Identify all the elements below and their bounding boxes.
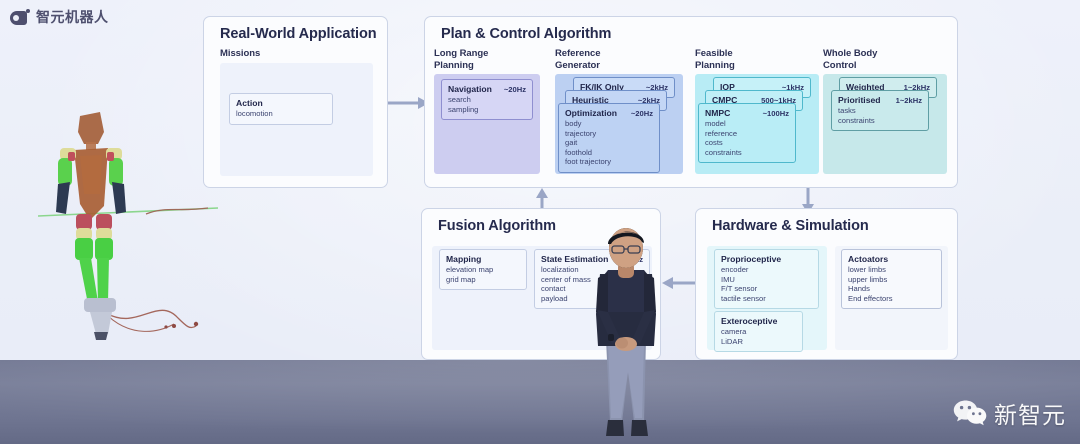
card-prioritised: Prioritised 1~2kHz tasks constraints bbox=[831, 90, 929, 131]
sub-label-whole-body-control: Whole Body Control bbox=[823, 48, 877, 71]
watermark-text: 新智元 bbox=[994, 396, 1066, 430]
panel-title-real-world: Real-World Application bbox=[220, 26, 377, 42]
card-item: trajectory bbox=[565, 129, 653, 139]
sub-label-line-1: Reference bbox=[555, 48, 601, 59]
card-item: body bbox=[565, 119, 653, 129]
card-name-action: Action bbox=[236, 98, 263, 108]
card-name-exteroceptive: Exteroceptive bbox=[721, 316, 777, 326]
sub-label-missions: Missions bbox=[220, 48, 260, 60]
sub-label-line-2: Control bbox=[823, 60, 856, 71]
panel-real-world-application: Real-World Application Missions Action l… bbox=[203, 16, 388, 188]
card-item: locomotion bbox=[236, 109, 326, 119]
card-action: Action locomotion bbox=[229, 93, 333, 125]
card-name-actoators: Actoators bbox=[848, 254, 888, 264]
card-proprioceptive: Proprioceptive encoder IMU F/T sensor ta… bbox=[714, 249, 819, 309]
card-actoators: Actoators lower limbs upper limbs Hands … bbox=[841, 249, 942, 309]
panel-title-plan-control: Plan & Control Algorithm bbox=[441, 26, 611, 42]
card-item: foothold bbox=[565, 148, 653, 158]
card-item: lower limbs bbox=[848, 265, 935, 275]
card-item: End effectors bbox=[848, 294, 935, 304]
sub-label-reference-generator: Reference Generator bbox=[555, 48, 601, 71]
sub-label-feasible-planning: Feasible Planning bbox=[695, 48, 735, 71]
wechat-icon bbox=[953, 399, 987, 427]
sub-label-line-2: Planning bbox=[695, 60, 735, 71]
card-name-optimization: Optimization bbox=[565, 108, 617, 118]
card-name-prioritised: Prioritised bbox=[838, 95, 881, 105]
card-hz-navigation: ~20Hz bbox=[504, 85, 526, 94]
card-item: upper limbs bbox=[848, 275, 935, 285]
card-item: elevation map bbox=[446, 265, 520, 275]
card-navigation: Navigation ~20Hz search sampling bbox=[441, 79, 533, 120]
card-hz-optimization: ~20Hz bbox=[631, 109, 653, 118]
card-nmpc: NMPC ~100Hz model reference costs constr… bbox=[698, 103, 796, 163]
card-item: constraints bbox=[705, 148, 789, 158]
panel-hardware-simulation: Hardware & Simulation Proprioceptive enc… bbox=[695, 208, 958, 360]
sub-label-line-2: Planning bbox=[434, 60, 474, 71]
card-hz-prioritised: 1~2kHz bbox=[896, 96, 922, 105]
sub-label-line-1: Long Range bbox=[434, 48, 488, 59]
card-item: constraints bbox=[838, 116, 922, 126]
watermark: 新智元 bbox=[953, 396, 1066, 430]
card-name-navigation: Navigation bbox=[448, 84, 492, 94]
card-mapping: Mapping elevation map grid map bbox=[439, 249, 527, 290]
card-item: search bbox=[448, 95, 526, 105]
panel-plan-control-algorithm: Plan & Control Algorithm Long Range Plan… bbox=[424, 16, 958, 188]
card-item: camera bbox=[721, 327, 796, 337]
card-exteroceptive: Exteroceptive camera LiDAR bbox=[714, 311, 803, 352]
card-item: model bbox=[705, 119, 789, 129]
sub-label-line-1: Whole Body bbox=[823, 48, 877, 59]
card-item: LiDAR bbox=[721, 337, 796, 347]
card-name-nmpc: NMPC bbox=[705, 108, 730, 118]
card-item: IMU bbox=[721, 275, 812, 285]
sub-label-long-range-planning: Long Range Planning bbox=[434, 48, 488, 71]
card-name-proprioceptive: Proprioceptive bbox=[721, 254, 781, 264]
card-item: tactile sensor bbox=[721, 294, 812, 304]
card-item: encoder bbox=[721, 265, 812, 275]
card-item: reference bbox=[705, 129, 789, 139]
card-item: gait bbox=[565, 138, 653, 148]
card-hz-nmpc: ~100Hz bbox=[763, 109, 789, 118]
sub-label-line-2: Generator bbox=[555, 60, 600, 71]
panel-title-fusion: Fusion Algorithm bbox=[438, 218, 556, 234]
presentation-slide: Real-World Application Missions Action l… bbox=[0, 0, 1080, 372]
card-item: Hands bbox=[848, 284, 935, 294]
card-item: grid map bbox=[446, 275, 520, 285]
card-item: costs bbox=[705, 138, 789, 148]
card-optimization: Optimization ~20Hz body trajectory gait … bbox=[558, 103, 660, 173]
sub-label-line-1: Feasible bbox=[695, 48, 733, 59]
floor-sheen bbox=[0, 360, 1080, 444]
card-item: sampling bbox=[448, 105, 526, 115]
presenter-person bbox=[578, 222, 674, 444]
card-item: foot trajectory bbox=[565, 157, 653, 167]
panel-title-hardware: Hardware & Simulation bbox=[712, 218, 869, 234]
card-item: tasks bbox=[838, 106, 922, 116]
card-name-mapping: Mapping bbox=[446, 254, 481, 264]
card-item: F/T sensor bbox=[721, 284, 812, 294]
